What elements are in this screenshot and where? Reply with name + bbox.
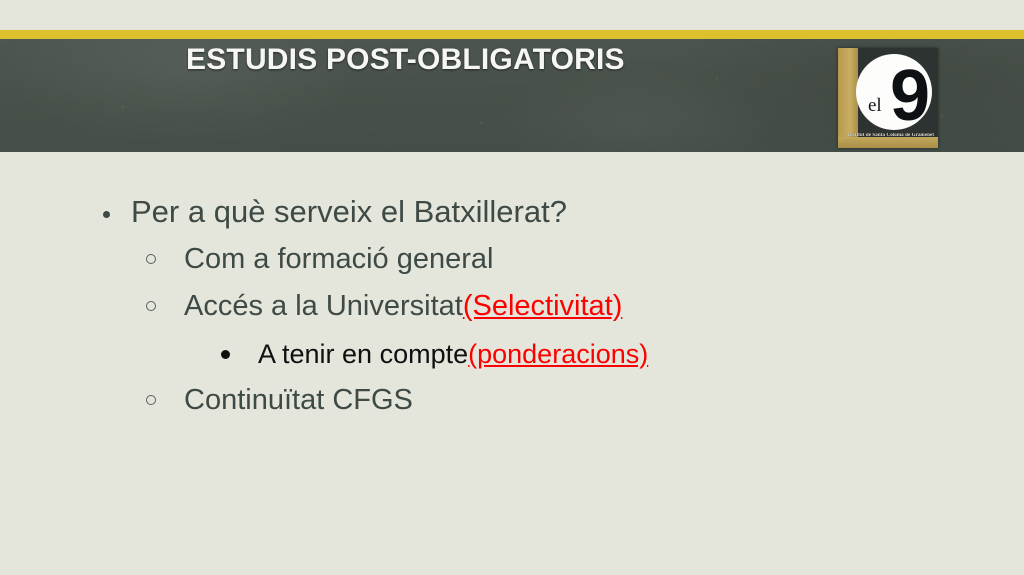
logo-gold-foot bbox=[838, 137, 938, 148]
list-item: Accés a la Universitat (Selectivitat) bbox=[146, 290, 622, 323]
list-item-label: Com a formació general bbox=[184, 243, 493, 276]
slide-body: Per a què serveix el Batxillerat? Com a … bbox=[0, 152, 1024, 575]
page-title: ESTUDIS POST-OBLIGATORIS bbox=[186, 43, 625, 77]
list-item: A tenir en compte (ponderacions) bbox=[221, 339, 648, 370]
institution-logo: el 9 Institut de Santa Coloma de Gramene… bbox=[838, 48, 938, 148]
list-item-highlight: (Selectivitat) bbox=[463, 290, 623, 323]
bullet-hollow-circle-icon bbox=[146, 254, 156, 264]
bullet-filled-disc-icon bbox=[103, 211, 110, 218]
logo-number-nine: 9 bbox=[890, 60, 930, 132]
presentation-slide: ESTUDIS POST-OBLIGATORIS el 9 Institut d… bbox=[0, 0, 1024, 575]
list-item-label: Per a què serveix el Batxillerat? bbox=[131, 194, 567, 230]
accent-bar bbox=[0, 30, 1024, 39]
list-item-highlight: (ponderacions) bbox=[468, 339, 648, 370]
list-item: Per a què serveix el Batxillerat? bbox=[103, 194, 567, 230]
list-item: Continuïtat CFGS bbox=[146, 384, 413, 417]
logo-caption: Institut de Santa Coloma de Gramenet bbox=[845, 133, 937, 138]
list-item-label: Accés a la Universitat bbox=[184, 290, 463, 323]
list-item-label: Continuïtat CFGS bbox=[184, 384, 413, 417]
list-item: Com a formació general bbox=[146, 243, 493, 276]
logo-word-el: el bbox=[868, 96, 882, 115]
list-item-label: A tenir en compte bbox=[258, 339, 468, 370]
bullet-hollow-circle-icon bbox=[146, 301, 156, 311]
bullet-filled-disc-icon bbox=[221, 350, 230, 359]
bullet-hollow-circle-icon bbox=[146, 395, 156, 405]
